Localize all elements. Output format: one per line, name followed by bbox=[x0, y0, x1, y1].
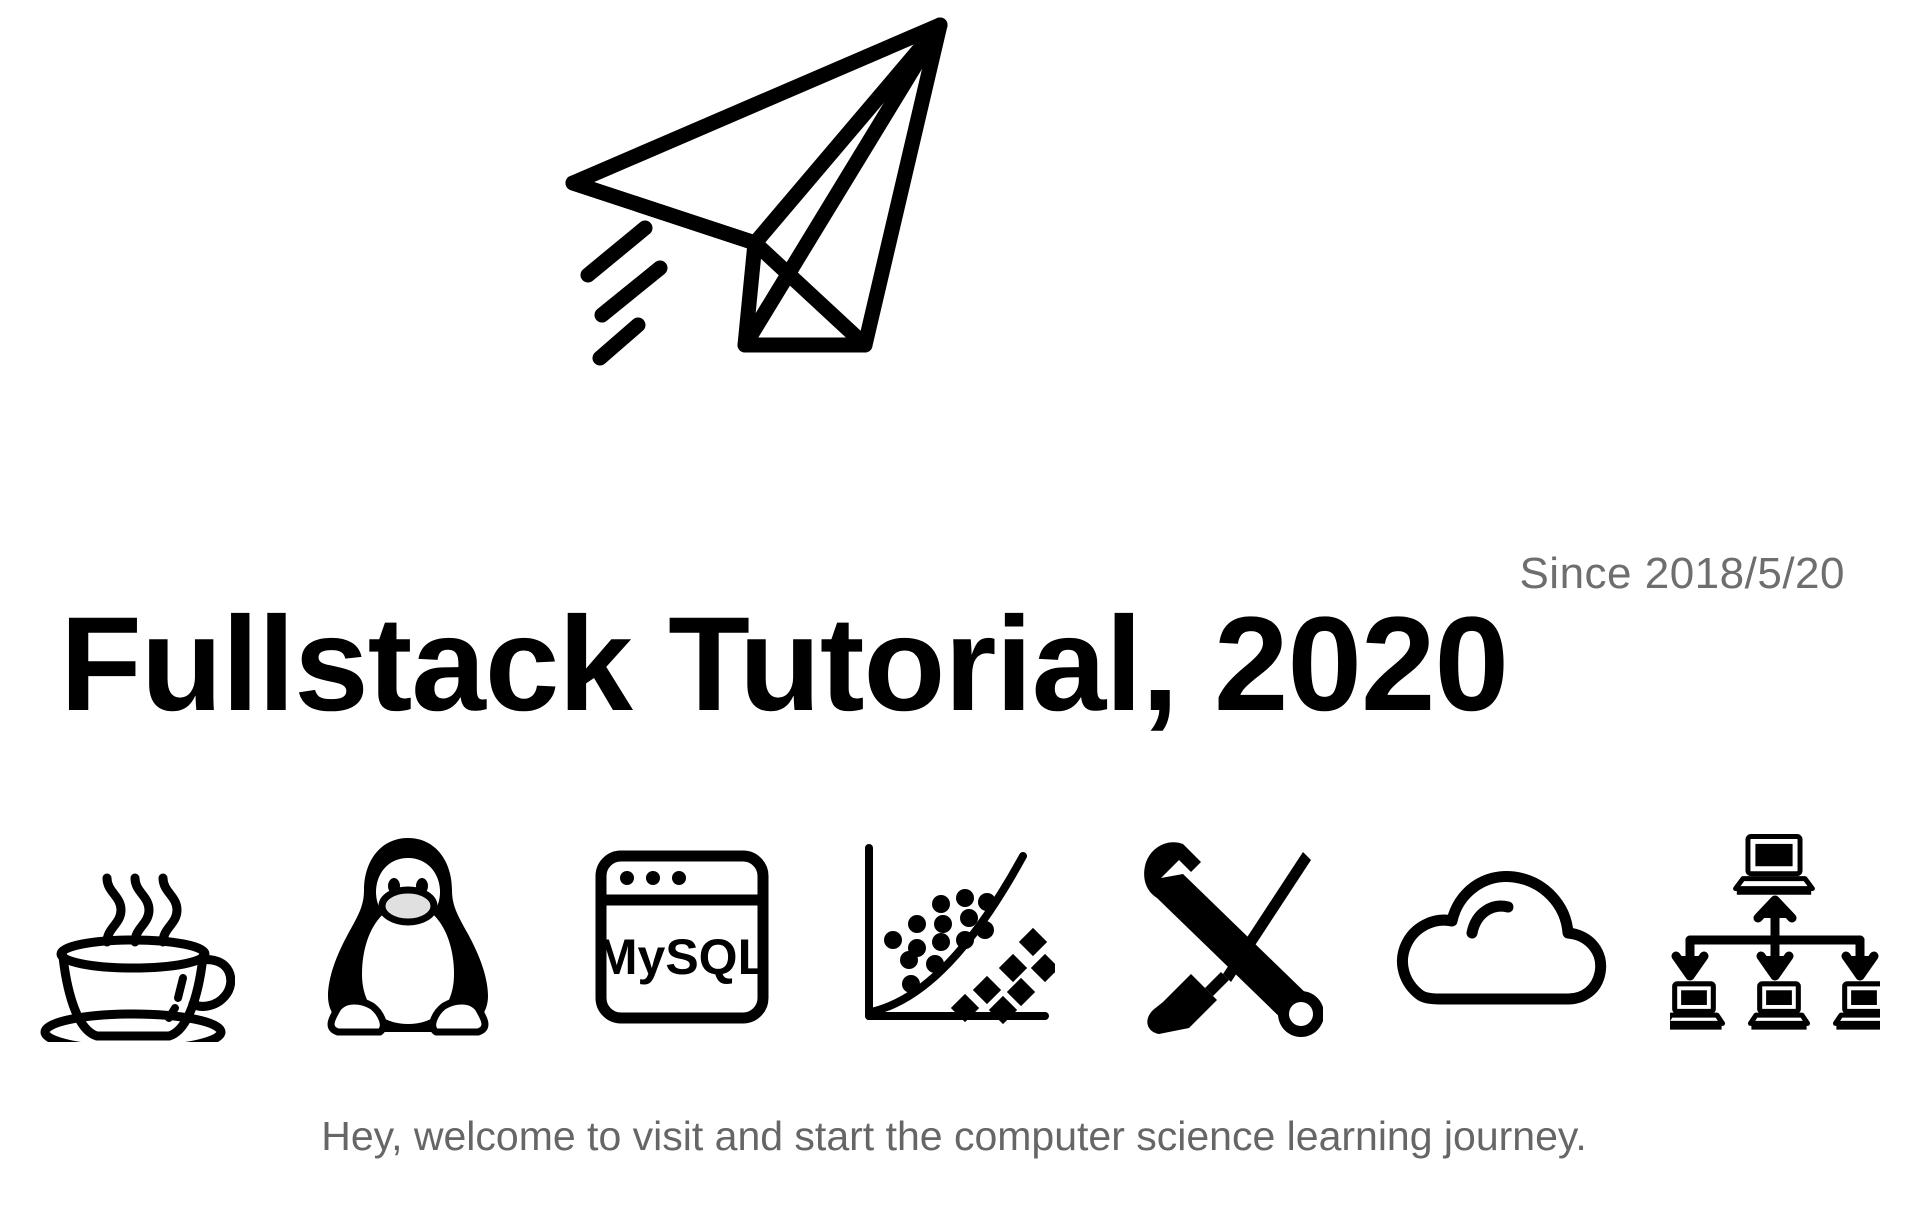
tech-icon-machine-learning bbox=[840, 820, 1070, 1055]
tech-icon-strip: MySQL bbox=[20, 812, 1890, 1062]
page-title: Fullstack Tutorial, 2020 bbox=[60, 598, 1860, 732]
tech-icon-mysql: MySQL bbox=[567, 820, 797, 1055]
scatter-plot-icon bbox=[855, 842, 1055, 1032]
tech-icon-tools bbox=[1113, 820, 1343, 1055]
network-nodes-icon bbox=[1670, 830, 1880, 1045]
tech-icon-java bbox=[20, 820, 250, 1055]
mysql-window-label: MySQL bbox=[596, 929, 768, 985]
tech-icon-distributed bbox=[1660, 820, 1890, 1055]
paper-plane-icon bbox=[540, 0, 980, 400]
tagline: Hey, welcome to visit and start the comp… bbox=[0, 1112, 1908, 1161]
wrench-screwdriver-icon bbox=[1133, 832, 1323, 1042]
hero-logo bbox=[540, 0, 980, 400]
tech-icon-cloud bbox=[1387, 820, 1617, 1055]
coffee-cup-icon bbox=[35, 832, 235, 1042]
mysql-window-icon: MySQL bbox=[587, 842, 777, 1032]
tech-icon-linux bbox=[293, 820, 523, 1055]
linux-penguin-icon bbox=[318, 832, 498, 1042]
page-root: Since 2018/5/20 Fullstack Tutorial, 2020 bbox=[0, 0, 1908, 1218]
cloud-icon bbox=[1392, 855, 1612, 1020]
